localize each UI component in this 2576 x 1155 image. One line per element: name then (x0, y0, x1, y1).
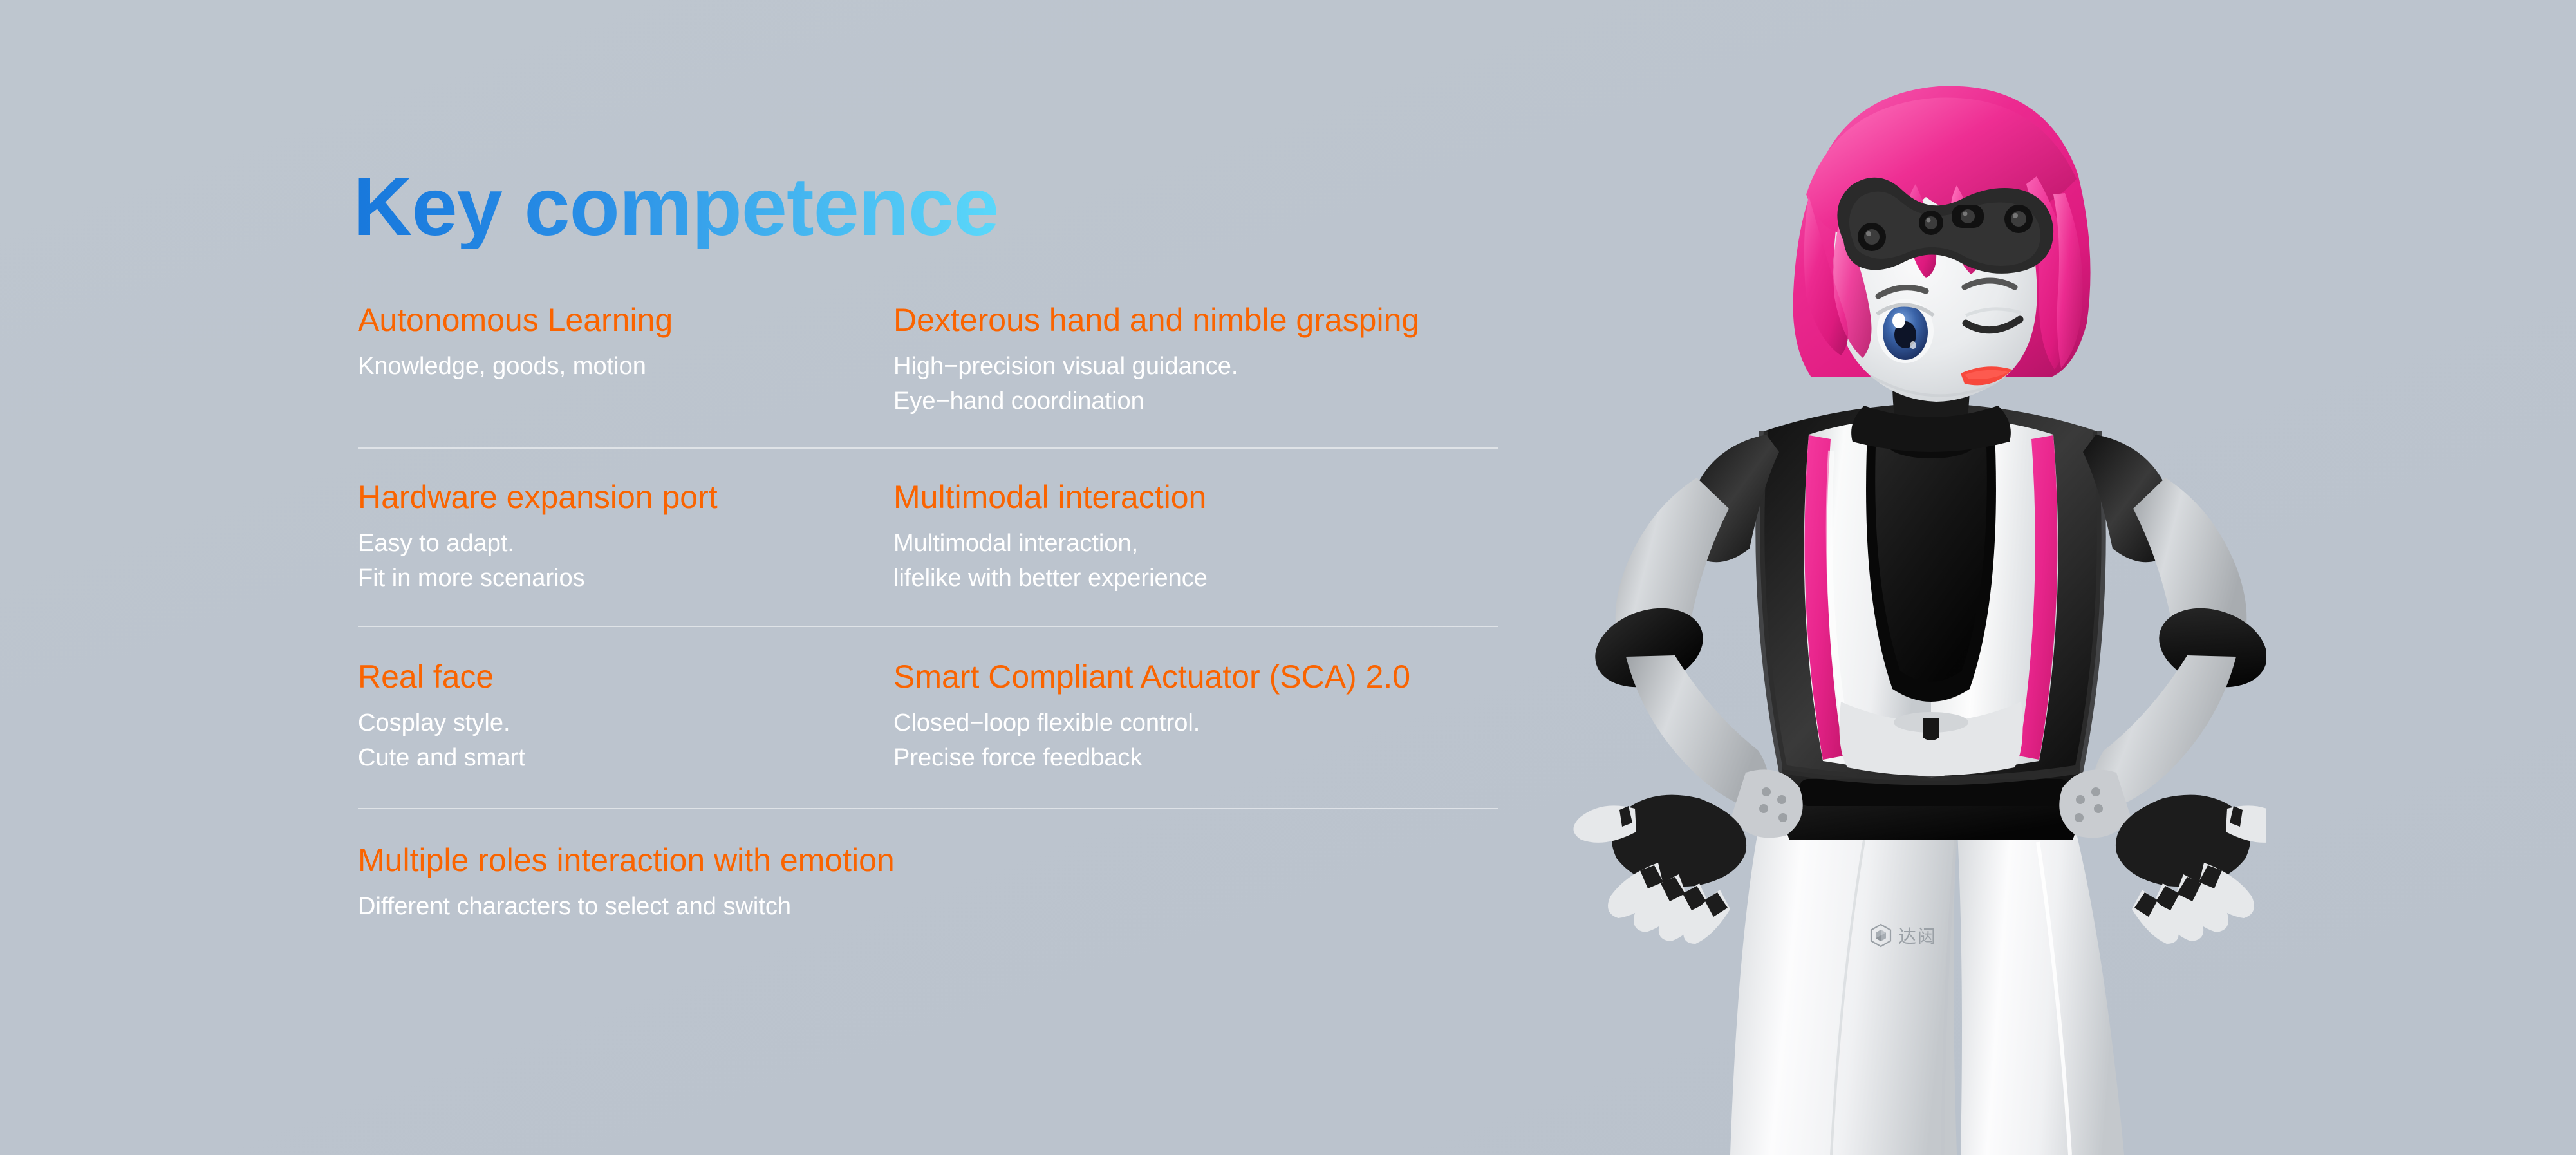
feature-description: Knowledge, goods, motion (358, 350, 868, 384)
feature-grid: Autonomous Learning Knowledge, goods, mo… (358, 303, 1498, 950)
feature-item-multiple-roles-interaction[interactable]: Multiple roles interaction with emotion … (358, 843, 1498, 925)
robot-brand-label: 达闼 (1870, 923, 1937, 948)
feature-heading: Autonomous Learning (358, 303, 868, 338)
feature-description: Multimodal interaction, lifelike with be… (893, 527, 1473, 596)
feature-item-autonomous-learning[interactable]: Autonomous Learning Knowledge, goods, mo… (358, 303, 893, 419)
feature-description: Easy to adapt. Fit in more scenarios (358, 527, 868, 596)
feature-description: High−precision visual guidance. Eye−hand… (893, 350, 1473, 419)
slide-canvas: Key competence Autonomous Learning Knowl… (0, 0, 2576, 1155)
feature-item-multimodal-interaction[interactable]: Multimodal interaction Multimodal intera… (893, 480, 1498, 596)
feature-row: Autonomous Learning Knowledge, goods, mo… (358, 303, 1498, 449)
robot-illustration (1506, 58, 2266, 1155)
feature-description: Cosplay style. Cute and smart (358, 706, 868, 776)
robot-torso (1760, 403, 2101, 781)
feature-row: Multiple roles interaction with emotion … (358, 809, 1498, 950)
feature-item-dexterous-hand[interactable]: Dexterous hand and nimble grasping High−… (893, 303, 1498, 419)
feature-heading: Multimodal interaction (893, 480, 1473, 515)
feature-heading: Multiple roles interaction with emotion (358, 843, 1473, 878)
feature-row: Real face Cosplay style. Cute and smart … (358, 627, 1498, 809)
feature-row: Hardware expansion port Easy to adapt. F… (358, 449, 1498, 627)
hex-cube-icon (1870, 923, 1892, 948)
feature-item-real-face[interactable]: Real face Cosplay style. Cute and smart (358, 659, 893, 776)
feature-item-hardware-expansion-port[interactable]: Hardware expansion port Easy to adapt. F… (358, 480, 893, 596)
feature-item-smart-compliant-actuator[interactable]: Smart Compliant Actuator (SCA) 2.0 Close… (893, 659, 1498, 776)
robot-lower-body (1730, 818, 2124, 1155)
feature-description: Closed−loop flexible control. Precise fo… (893, 706, 1473, 776)
robot-open-eye (1877, 299, 1934, 363)
feature-heading: Hardware expansion port (358, 480, 868, 515)
feature-heading: Dexterous hand and nimble grasping (893, 303, 1473, 338)
feature-heading: Real face (358, 659, 868, 695)
robot-brand-text: 达闼 (1898, 923, 1937, 948)
feature-description: Different characters to select and switc… (358, 890, 1473, 925)
robot-head (1793, 86, 2091, 402)
page-title: Key competence (353, 166, 998, 249)
feature-heading: Smart Compliant Actuator (SCA) 2.0 (893, 659, 1473, 695)
